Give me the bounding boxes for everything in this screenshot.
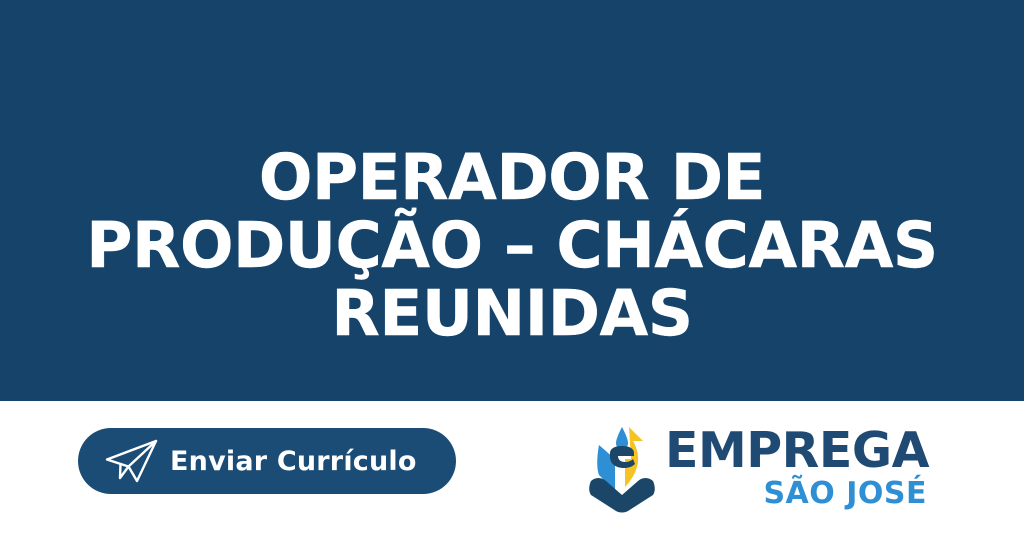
- emprega-sao-jose-logo-icon: [585, 419, 659, 515]
- brand-logo[interactable]: EMPREGA SÃO JOSÉ: [585, 418, 925, 516]
- brand-city: SÃO JOSÉ: [665, 479, 927, 509]
- hero-panel: [0, 0, 1024, 401]
- brand-wordmark: EMPREGA SÃO JOSÉ: [659, 426, 929, 509]
- brand-name: EMPREGA: [665, 426, 929, 475]
- send-resume-button[interactable]: Enviar Currículo: [78, 428, 456, 494]
- paper-plane-icon: [104, 438, 160, 484]
- send-resume-label: Enviar Currículo: [170, 446, 417, 477]
- job-posting-card: OPERADOR DE PRODUÇÃO – CHÁCARAS REUNIDAS…: [0, 0, 1024, 536]
